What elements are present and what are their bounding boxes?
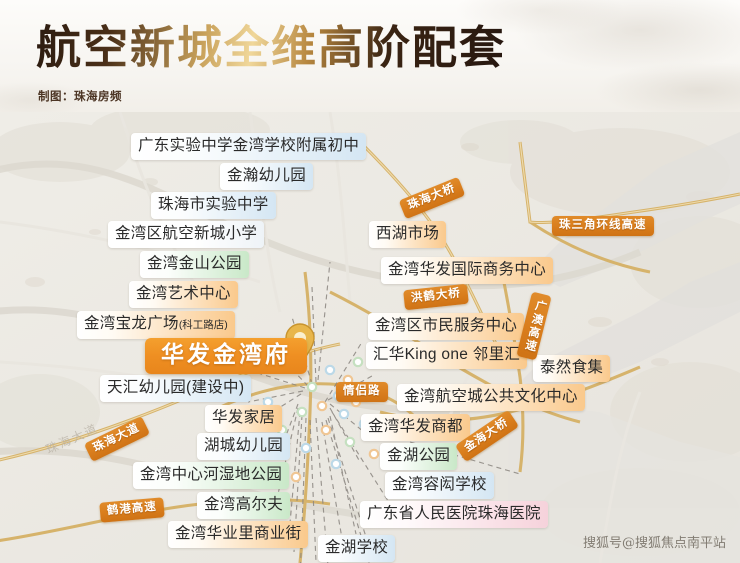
poi-label[interactable]: 金湾华业里商业街 [168, 521, 308, 548]
poi-label-text: 金湖学校 [325, 539, 388, 556]
poi-label[interactable]: 广东省人民医院珠海医院 [360, 501, 548, 528]
poi-label[interactable]: 西湖市场 [369, 221, 446, 248]
map-canvas[interactable]: 珠海大道 广东实验中学金湾学校附属初中金瀚幼儿园珠海市实验中学金湾区航空新城小学… [0, 112, 740, 563]
poi-label-text: 金湾华发商都 [368, 418, 463, 435]
poi-label[interactable]: 金瀚幼儿园 [220, 163, 313, 190]
poi-label[interactable]: 金湾航空城公共文化中心 [397, 384, 585, 411]
poi-label[interactable]: 湖城幼儿园 [197, 433, 290, 460]
poi-label-text: 金湾容闳学校 [392, 476, 487, 493]
poi-label[interactable]: 珠海市实验中学 [151, 192, 276, 219]
poi-label-suffix: (科工路店) [179, 319, 228, 331]
poi-label[interactable]: 金湾艺术中心 [129, 281, 238, 308]
poi-label-text: 珠海市实验中学 [158, 196, 269, 213]
poi-label-text: 华发家居 [212, 409, 275, 426]
poi-label[interactable]: 金湖学校 [318, 535, 395, 562]
poi-label-text: 湖城幼儿园 [204, 437, 283, 454]
poi-label[interactable]: 金湾华发国际商务中心 [381, 257, 553, 284]
poi-label[interactable]: 金湾金山公园 [140, 251, 249, 278]
poi-label[interactable]: 泰然食集 [533, 355, 610, 382]
poi-label[interactable]: 金湾中心河湿地公园 [133, 462, 289, 489]
poi-label-text: 金湾中心河湿地公园 [140, 466, 282, 483]
poster-header: 航空新城全维高阶配套 制图：珠海房频 [0, 0, 740, 112]
poi-label-text: 广东实验中学金湾学校附属初中 [138, 137, 359, 154]
poi-label[interactable]: 广东实验中学金湾学校附属初中 [131, 133, 366, 160]
poi-label-text: 广东省人民医院珠海医院 [367, 505, 541, 522]
poi-label[interactable]: 汇华King one 邻里汇 [366, 342, 527, 369]
project-badge[interactable]: 华发金湾府 [145, 338, 307, 374]
poi-label[interactable]: 金湖公园 [380, 443, 457, 470]
road-tag[interactable]: 情侣路 [336, 382, 388, 402]
poi-label-text: 金湾艺术中心 [136, 285, 231, 302]
page-title: 航空新城全维高阶配套 [36, 20, 506, 76]
poi-label[interactable]: 金湾高尔夫 [197, 492, 290, 519]
road-tag[interactable]: 珠三角环线高速 [552, 216, 654, 236]
poi-label-text: 泰然食集 [540, 359, 603, 376]
poi-label-text: 金湾航空城公共文化中心 [404, 388, 578, 405]
watermark: 搜狐号@搜狐焦点南平站 [583, 532, 726, 551]
poi-label[interactable]: 金湾区航空新城小学 [108, 221, 264, 248]
poi-label-text: 金湾华业里商业街 [175, 525, 301, 542]
poi-label[interactable]: 金湾区市民服务中心 [368, 313, 524, 340]
infographic-map-poster: 航空新城全维高阶配套 制图：珠海房频 [0, 0, 740, 563]
poi-label-text: 金湾区市民服务中心 [375, 317, 517, 334]
poi-label[interactable]: 天汇幼儿园(建设中) [100, 375, 251, 402]
poi-label-text: 金湾华发国际商务中心 [388, 261, 546, 278]
poi-label-text: 天汇幼儿园(建设中) [107, 379, 244, 396]
poi-label-text: 汇华King one 邻里汇 [373, 346, 520, 363]
poi-label-text: 金湾高尔夫 [204, 496, 283, 513]
poi-label-text: 金湾宝龙广场 [84, 315, 179, 332]
poi-label[interactable]: 金湾宝龙广场(科工路店) [77, 311, 235, 339]
poi-label-text: 西湖市场 [376, 225, 439, 242]
poi-label-text: 金湾金山公园 [147, 255, 242, 272]
poi-label-text: 金湾区航空新城小学 [115, 225, 257, 242]
poi-label-text: 金瀚幼儿园 [227, 167, 306, 184]
credit-line: 制图：珠海房频 [38, 88, 122, 104]
poi-label[interactable]: 华发家居 [205, 405, 282, 432]
poi-label[interactable]: 金湾华发商都 [361, 414, 470, 441]
poi-label[interactable]: 金湾容闳学校 [385, 472, 494, 499]
poi-label-text: 金湖公园 [387, 447, 450, 464]
